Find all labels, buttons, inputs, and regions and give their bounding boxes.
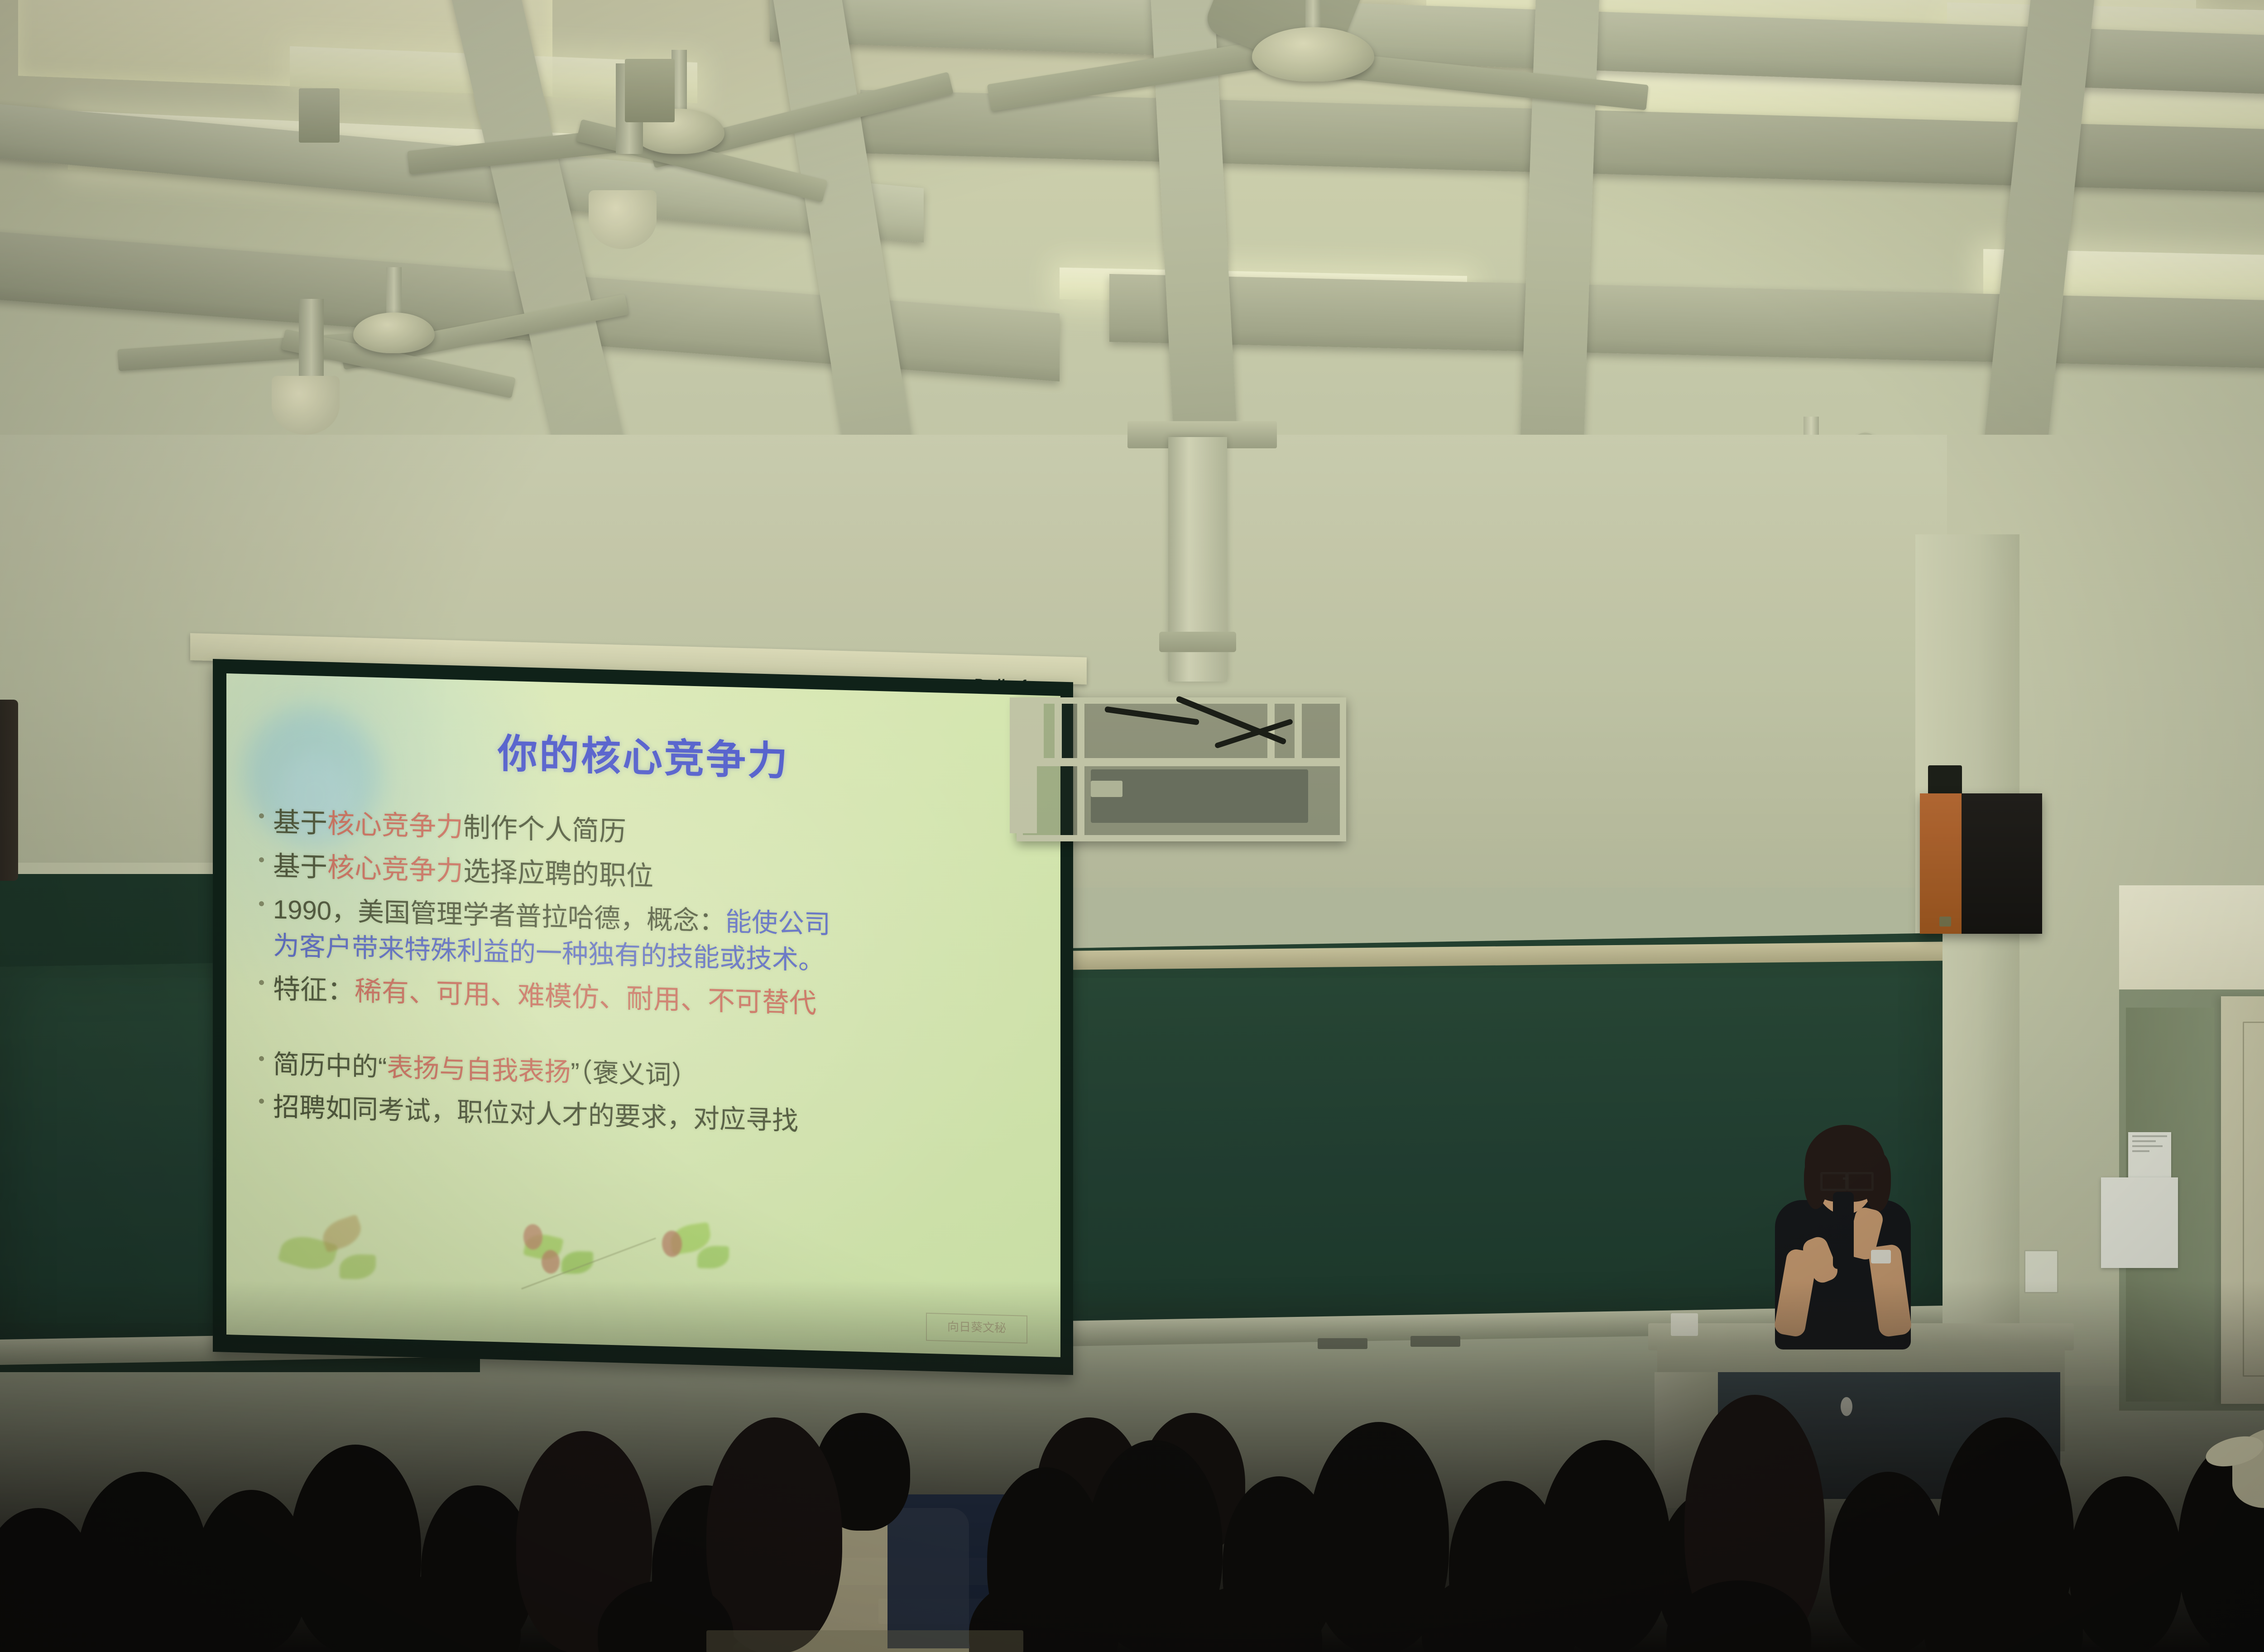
bullet-dot-icon	[259, 857, 264, 862]
projector-cable	[1104, 706, 1199, 725]
bullet-text-highlight: 能使公司	[725, 907, 830, 939]
beam-bracket	[625, 59, 675, 122]
cage-bar	[1055, 704, 1062, 758]
fan-motor-housing	[272, 376, 340, 435]
speaker-badge	[1939, 917, 1951, 927]
bullet-dot-icon	[259, 980, 264, 985]
ceiling-fan	[1087, 5, 1540, 158]
bullet-dot-icon	[259, 1099, 264, 1104]
wall-speaker	[1920, 793, 2042, 934]
presenter-microphone[interactable]	[1833, 1192, 1854, 1269]
door-notice-paper	[2128, 1132, 2171, 1182]
projector-pole-joint	[1159, 632, 1236, 652]
projector-security-cage[interactable]	[1017, 697, 1346, 841]
slide-bullet: 1990，美国管理学者普拉哈德，概念：能使公司 为客户带来特殊利益的一种独有的技…	[259, 891, 1042, 985]
wall-mounted-object	[0, 700, 18, 881]
speaker-cabinet-side	[1920, 793, 1962, 934]
bullet-text-highlight: 核心竞争力	[327, 808, 463, 842]
bullet-text-post: 选择应聘的职位	[463, 856, 653, 891]
desk-edge	[706, 1630, 1023, 1652]
bullet-text-pre: 基于	[273, 851, 327, 883]
projector-vent	[1091, 781, 1122, 797]
presenter-glasses-bridge	[1843, 1177, 1848, 1180]
projected-slide: 你的核心竞争力 基于核心竞争力制作个人简历 基于核心竞争力选择应聘的职位	[226, 673, 1060, 1357]
projector-body	[1091, 769, 1308, 823]
bullet-dot-icon	[259, 1056, 264, 1061]
bullet-text-post: 制作个人简历	[463, 812, 626, 847]
speaker-wall-bracket	[1928, 765, 1962, 795]
projector-cable	[1214, 718, 1294, 749]
bullet-text-post: ”（褒义词）	[571, 1058, 697, 1091]
cage-bar	[1295, 704, 1302, 758]
bullet-text-pre: 招聘如同考试，职位对人才的要求，对应寻找	[273, 1092, 798, 1136]
cage-bar	[1023, 758, 1340, 766]
bullet-text-highlight: 稀有、可用、难模仿、耐用、不可替代	[355, 975, 816, 1018]
fan-motor-housing	[589, 190, 657, 249]
beam-bracket	[299, 88, 340, 143]
bullet-text-pre: 特征：	[273, 973, 355, 1006]
door-transom-window	[2119, 885, 2264, 989]
bullet-text-pre: 基于	[273, 807, 327, 839]
wall-notice-sheet	[2101, 1177, 2178, 1268]
speaker-grille	[1962, 793, 2042, 934]
lecture-hall-photo: Redleaf 你的核心竞争力 基于核心竞争力制作个人简历 基于核心竞争力选择应…	[0, 0, 2264, 1652]
bullet-text-highlight: 核心竞争力	[327, 852, 463, 886]
bullet-text-pre: 简历中的“	[273, 1050, 387, 1082]
audience-head	[2069, 1476, 2182, 1652]
bullet-text-highlight: 表扬与自我表扬	[387, 1053, 571, 1087]
cage-side-post	[1010, 697, 1037, 833]
bullet-dot-icon	[259, 901, 264, 906]
presenter-glasses-right-lens	[1847, 1172, 1874, 1191]
ceiling-fan	[190, 281, 598, 417]
cage-bar	[1036, 704, 1044, 758]
bullet-dot-icon	[259, 813, 264, 818]
presenter-wristwatch	[1871, 1250, 1891, 1263]
presenter-glasses-left-lens	[1820, 1172, 1847, 1191]
ceiling-fan	[475, 68, 883, 213]
cage-bar	[1077, 704, 1084, 835]
